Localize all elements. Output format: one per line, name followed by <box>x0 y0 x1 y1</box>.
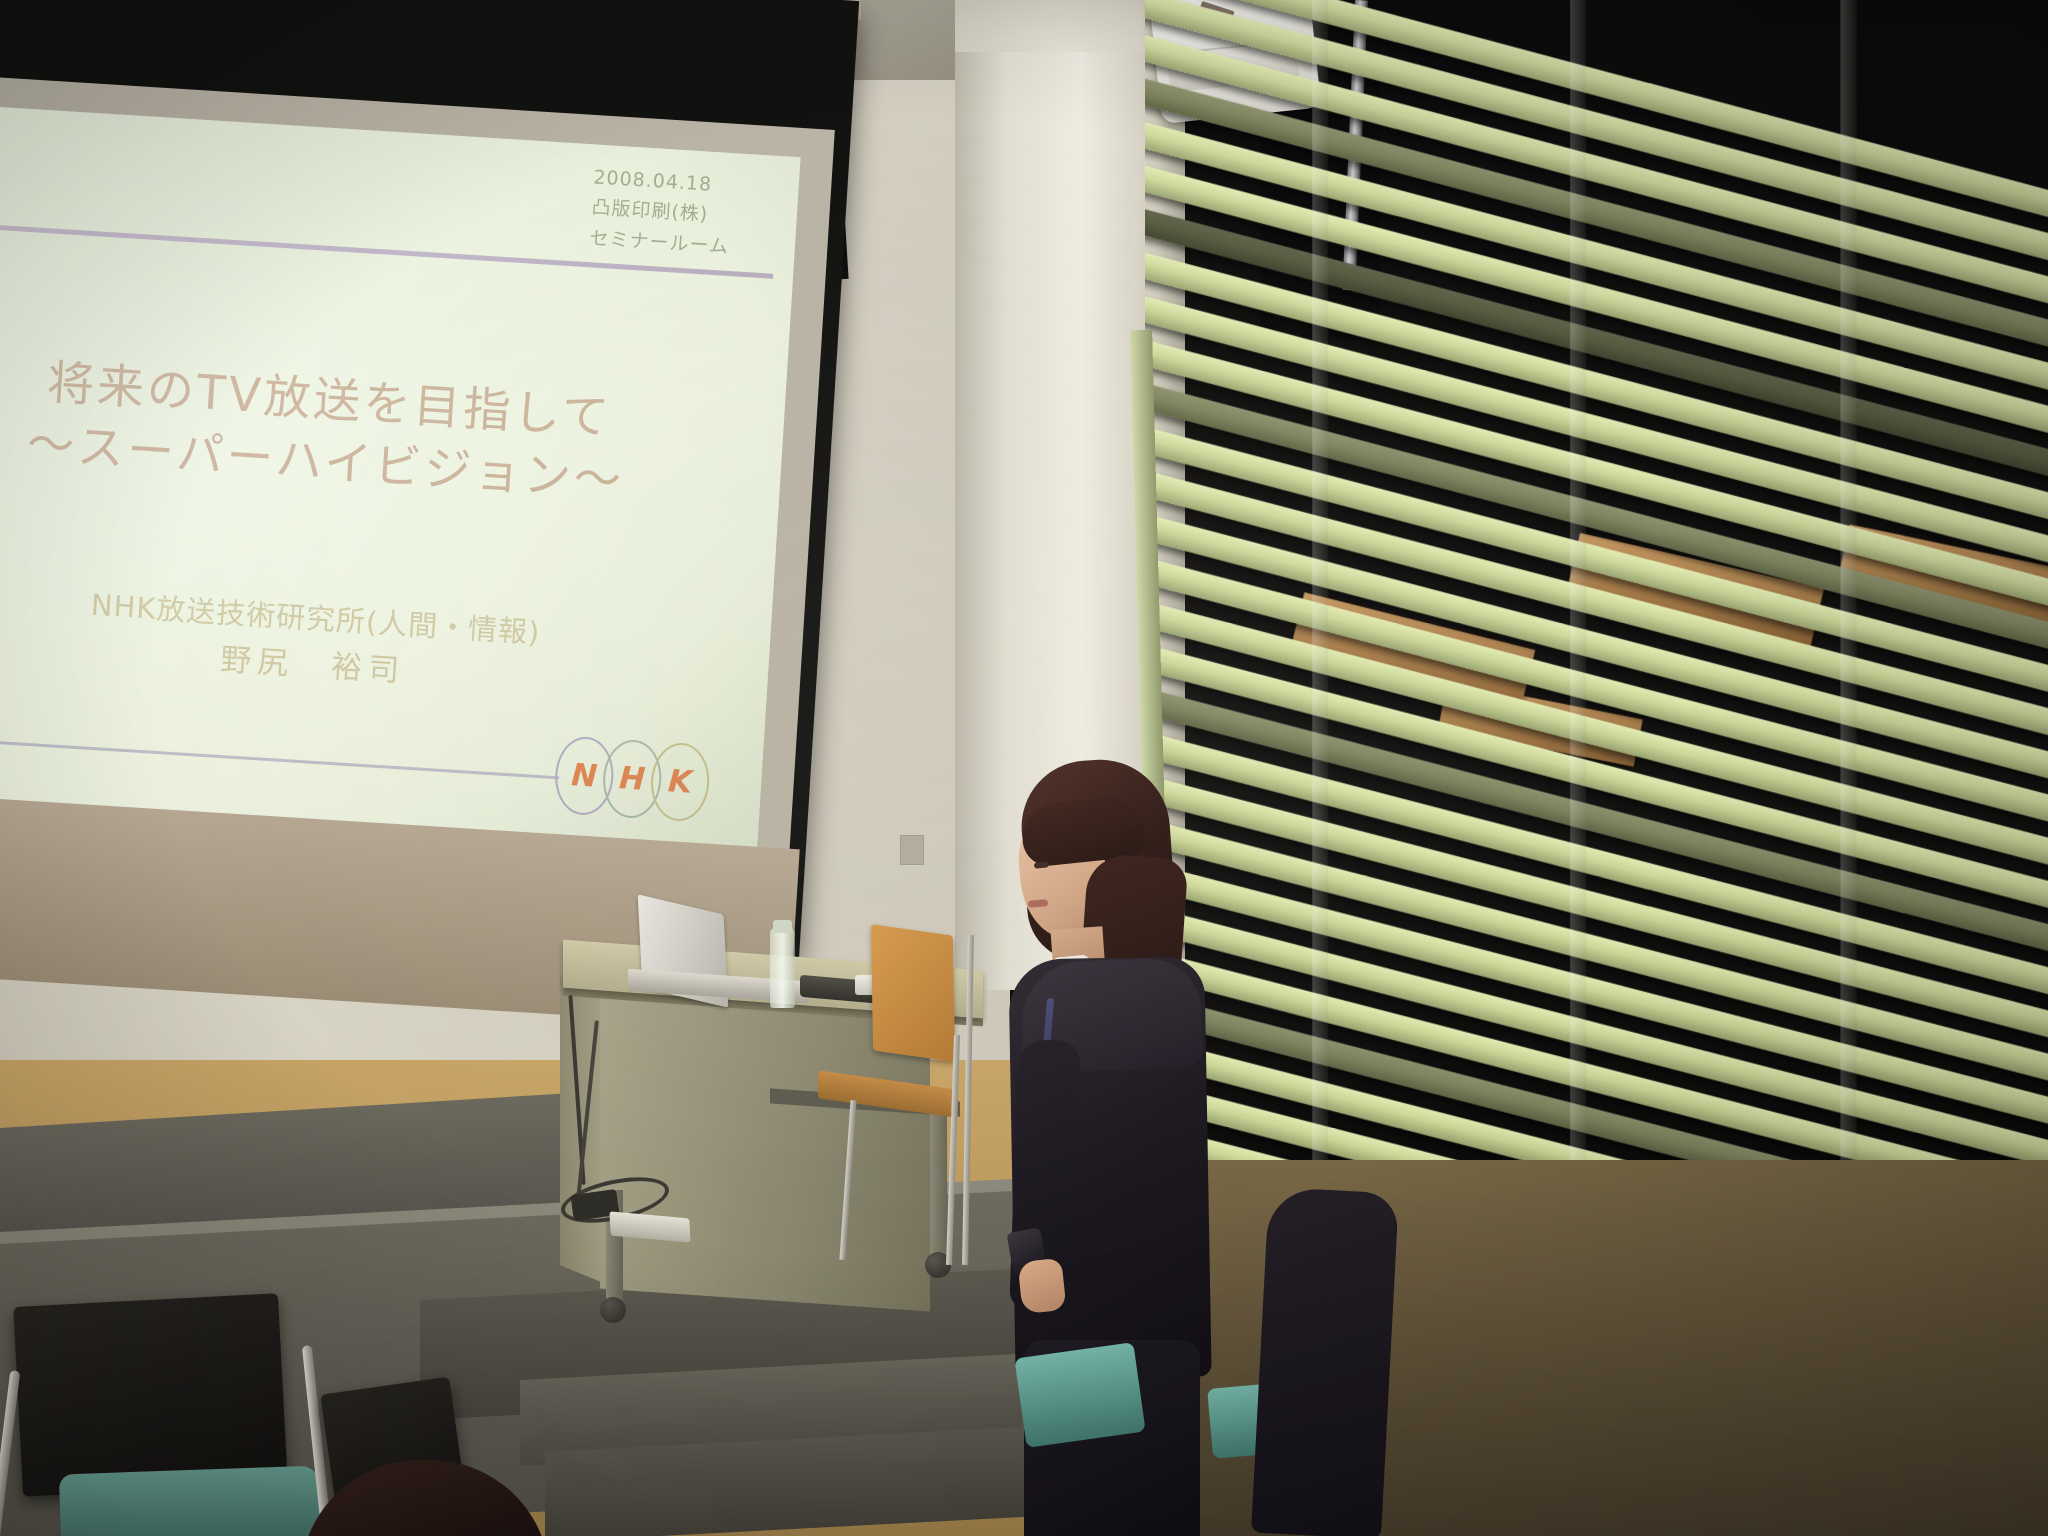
slide-author: NHK放送技術研究所(人間・情報) 野尻 裕司 <box>0 569 771 719</box>
slide-meta-block: 2008.04.18 凸版印刷(株) セミナールーム <box>589 162 734 262</box>
nhk-logo-letter-k: K <box>649 741 712 822</box>
audience-chair-back-left <box>13 1293 288 1497</box>
nhk-logo-icon: N H K <box>553 735 712 823</box>
seminar-room-photo: mage 008 2008.04.18 凸版印刷(株) セミナールーム 将来のT… <box>0 0 2048 1536</box>
wall-socket <box>900 835 924 865</box>
podium-leg-right <box>930 1110 947 1260</box>
projected-slide: mage 008 2008.04.18 凸版印刷(株) セミナールーム 将来のT… <box>0 100 801 904</box>
chair-cushion-right <box>1014 1342 1145 1448</box>
audience-chair-seat-left <box>59 1465 321 1536</box>
hanging-coat <box>1251 1187 1399 1536</box>
slide-footer-rule <box>0 732 559 779</box>
water-bottle-cap <box>773 920 792 933</box>
presenter-mouth <box>1028 899 1048 907</box>
wooden-chair-back <box>871 924 955 1062</box>
presenter-hand <box>1017 1258 1066 1314</box>
slide-title: 将来のTV放送を目指して 〜スーパーハイビジョン〜 <box>0 342 785 523</box>
podium-caster-left <box>600 1297 626 1323</box>
water-bottle <box>770 928 795 1008</box>
